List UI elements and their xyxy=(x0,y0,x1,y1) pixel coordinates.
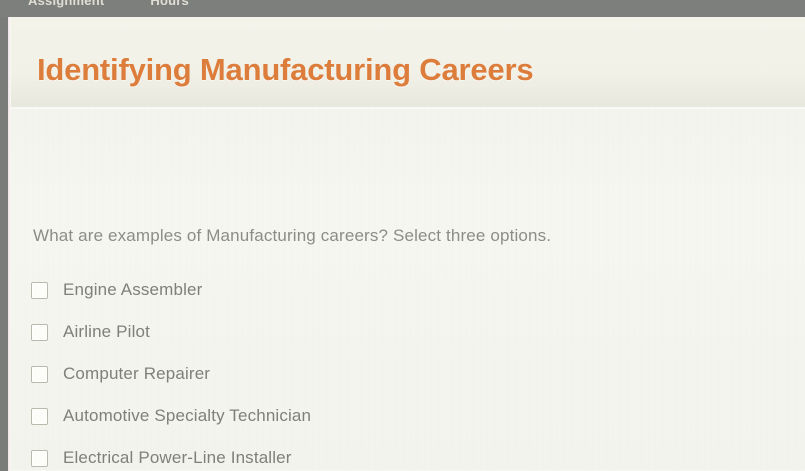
option-label: Automotive Specialty Technician xyxy=(63,406,311,426)
topbar-item-hours[interactable]: Hours xyxy=(150,0,189,8)
checkbox-airline-pilot[interactable] xyxy=(31,324,48,341)
option-label: Electrical Power-Line Installer xyxy=(63,448,292,468)
option-electrical-power-line-installer[interactable]: Electrical Power-Line Installer xyxy=(11,437,805,471)
top-navigation-bar: Assignment Hours xyxy=(0,0,805,17)
option-computer-repairer[interactable]: Computer Repairer xyxy=(11,353,805,395)
question-body: What are examples of Manufacturing caree… xyxy=(11,109,805,470)
top-navigation-items: Assignment Hours xyxy=(0,0,805,11)
page-title: Identifying Manufacturing Careers xyxy=(37,51,533,89)
option-engine-assembler[interactable]: Engine Assembler xyxy=(11,269,805,311)
option-label: Computer Repairer xyxy=(63,364,210,384)
checkbox-automotive-specialty-technician[interactable] xyxy=(31,408,48,425)
option-automotive-specialty-technician[interactable]: Automotive Specialty Technician xyxy=(11,395,805,437)
assignment-screen: Assignment Hours Identifying Manufacturi… xyxy=(0,0,805,471)
title-band: Identifying Manufacturing Careers xyxy=(11,17,805,109)
content-panel: Identifying Manufacturing Careers What a… xyxy=(11,17,805,471)
topbar-item-assignment[interactable]: Assignment xyxy=(28,0,104,8)
question-prompt: What are examples of Manufacturing caree… xyxy=(33,225,551,247)
option-airline-pilot[interactable]: Airline Pilot xyxy=(11,311,805,353)
left-rail xyxy=(0,17,8,471)
checkbox-computer-repairer[interactable] xyxy=(31,366,48,383)
option-label: Airline Pilot xyxy=(63,322,150,342)
option-label: Engine Assembler xyxy=(63,280,202,300)
checkbox-engine-assembler[interactable] xyxy=(31,282,48,299)
checkbox-electrical-power-line-installer[interactable] xyxy=(31,450,48,467)
answer-options-list: Engine Assembler Airline Pilot Computer … xyxy=(11,269,805,471)
